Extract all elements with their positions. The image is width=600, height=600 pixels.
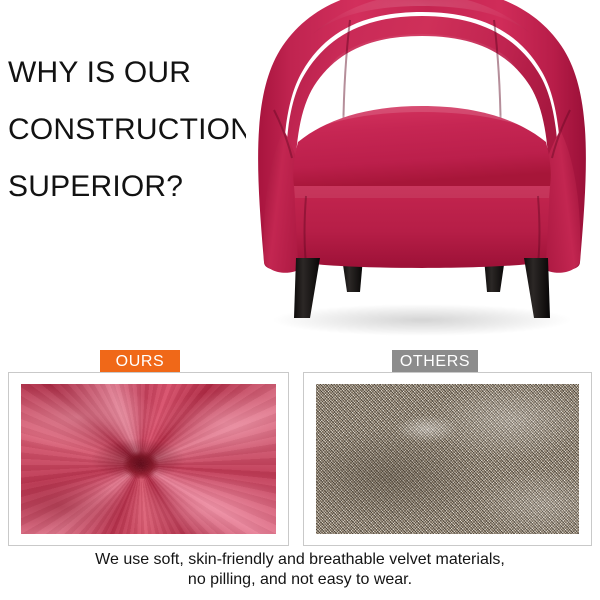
velvet-sheen-overlay xyxy=(21,384,276,534)
chair-seat-front-apron xyxy=(294,186,550,268)
floor-shadow xyxy=(272,304,572,336)
pink-velvet-fabric-swirl-image xyxy=(21,384,276,534)
fabric-swatch-others xyxy=(316,384,579,534)
page-headline: WHY IS OUR CONSTRUCTION SUPERIOR? xyxy=(8,44,258,215)
caption-line-1: We use soft, skin-friendly and breathabl… xyxy=(0,550,600,570)
burlap-shading-overlay xyxy=(316,384,579,534)
chair-seat-cushion xyxy=(293,106,551,186)
badge-ours: OURS xyxy=(100,350,180,374)
product-photo-velvet-barrel-chair xyxy=(246,0,600,340)
comparison-panel-ours xyxy=(8,372,289,546)
caption-block: We use soft, skin-friendly and breathabl… xyxy=(0,550,600,590)
chair-illustration xyxy=(246,0,600,340)
comparison-panel-others xyxy=(303,372,592,546)
caption-line-2: no pilling, and not easy to wear. xyxy=(0,570,600,590)
chair-apron-top-highlight xyxy=(294,186,550,198)
headline-line-3: SUPERIOR? xyxy=(8,158,258,215)
headline-line-2: CONSTRUCTION xyxy=(8,101,258,158)
badge-others: OTHERS xyxy=(392,350,478,374)
coarse-burlap-weave-fabric-image xyxy=(316,384,579,534)
headline-line-1: WHY IS OUR xyxy=(8,44,258,101)
fabric-swatch-ours xyxy=(21,384,276,534)
